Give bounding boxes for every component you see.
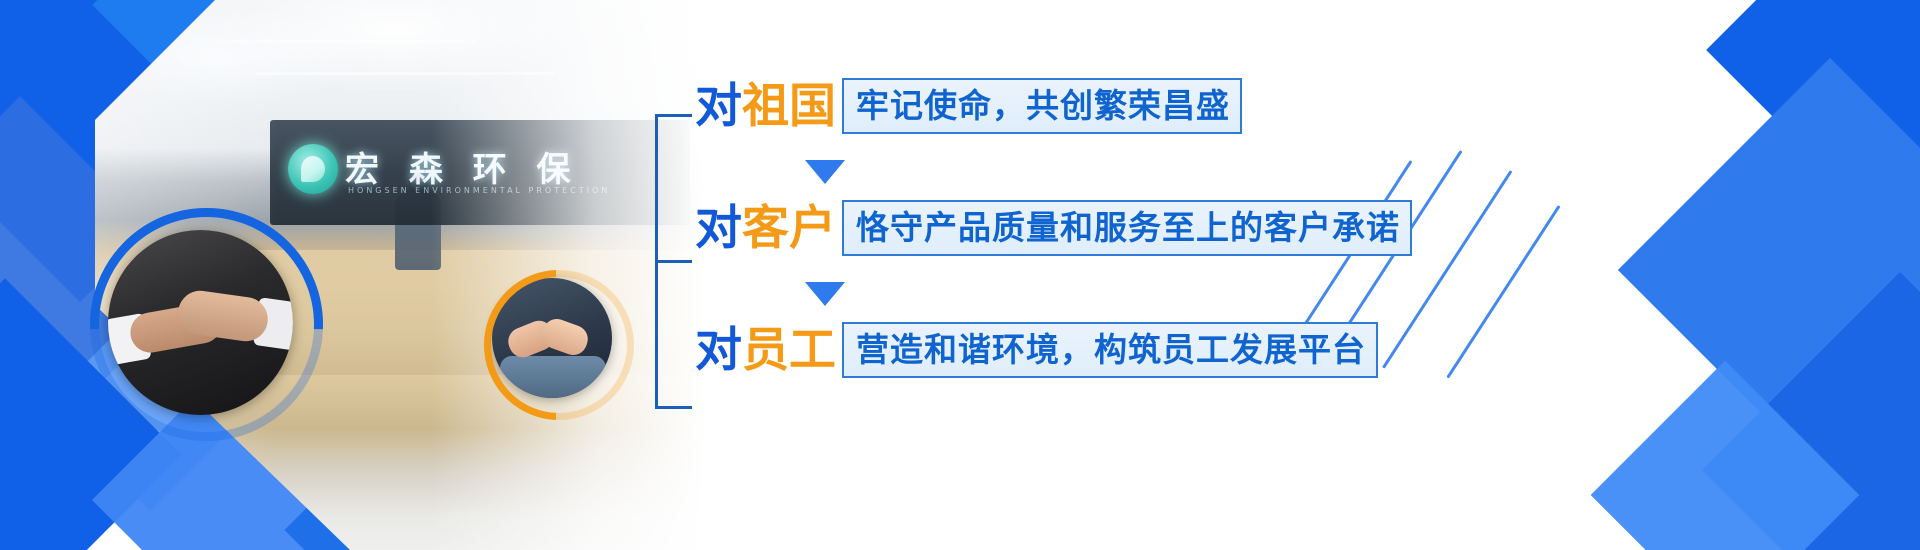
value-row-employee: 对员工 营造和谐环境，构筑员工发展平台: [695, 322, 1378, 378]
bracket-tick-1: [658, 114, 692, 117]
value-lead-customer: 对客户: [695, 205, 836, 252]
value-row-customer: 对客户 恪守产品质量和服务至上的客户承诺: [695, 200, 1412, 256]
value-lead-prefix: 对: [695, 79, 742, 134]
triangle-down-icon: [805, 160, 845, 184]
bracket-connector-icon: [655, 114, 690, 409]
corporate-values-banner: 宏 森 环 保 HONGSEN ENVIRONMENTAL PROTECTION: [0, 0, 1920, 550]
decor-diamond-right-1: [1706, 0, 1920, 234]
decor-slash-lines: [1390, 150, 1690, 480]
value-lead-employee: 对员工: [695, 327, 836, 374]
triangle-down-icon: [805, 282, 845, 306]
bracket-tick-3: [658, 406, 692, 409]
value-lead-prefix: 对: [695, 323, 742, 378]
value-phrase-customer: 恪守产品质量和服务至上的客户承诺: [842, 200, 1412, 256]
value-phrase-country: 牢记使命，共创繁荣昌盛: [842, 78, 1242, 134]
decor-diamond-right-3: [1702, 272, 1920, 550]
value-lead-keyword: 客户: [742, 201, 836, 256]
value-lead-prefix: 对: [695, 201, 742, 256]
value-row-country: 对祖国 牢记使命，共创繁荣昌盛: [695, 78, 1242, 134]
value-phrase-employee: 营造和谐环境，构筑员工发展平台: [842, 322, 1378, 378]
value-lead-keyword: 祖国: [742, 79, 836, 134]
value-lead-keyword: 员工: [742, 323, 836, 378]
decor-slash-4: [1446, 205, 1560, 379]
value-lead-country: 对祖国: [695, 83, 836, 130]
values-list: 对祖国 牢记使命，共创繁荣昌盛 对客户 恪守产品质量和服务至上的客户承诺 对员工…: [655, 78, 1415, 478]
bracket-tick-2: [658, 260, 692, 263]
